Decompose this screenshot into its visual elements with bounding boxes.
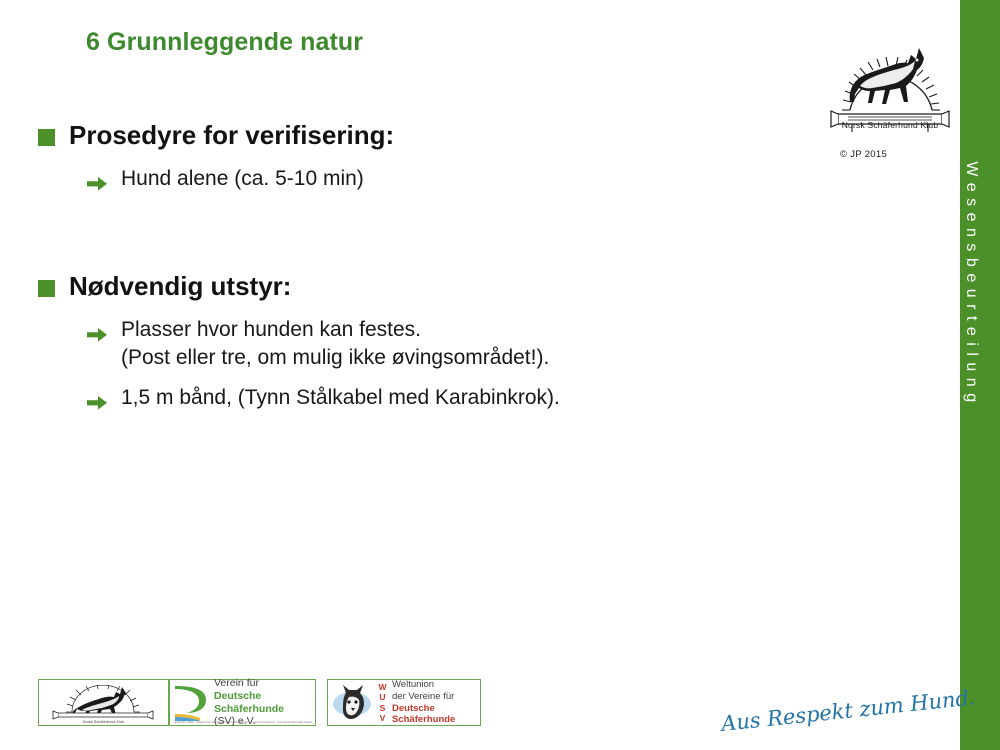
- block-spacer: [0, 195, 940, 269]
- footer-nshk-caption: Norsk Schäferhund Klub: [39, 720, 168, 724]
- page-title: 6 Grunnleggende natur: [86, 28, 363, 57]
- logo-strip-spacer: [316, 679, 327, 726]
- wusv-shepherd-head-icon: [332, 683, 376, 723]
- green-arrow-bullet-icon: [86, 392, 108, 414]
- footer-logo-nshk: Norsk Schäferhund Klub: [38, 679, 169, 726]
- wusv-letters: WUSV: [377, 682, 388, 722]
- green-arrow-bullet-icon: [86, 173, 108, 195]
- sv-line-1: Verein für: [214, 677, 315, 690]
- sub-bullet-row: Plasser hvor hunden kan festes. (Post el…: [0, 316, 940, 372]
- content-block-procedure: Prosedyre for verifisering: Hund alene (…: [0, 118, 940, 195]
- green-square-bullet-icon: [38, 129, 55, 146]
- bullet-heading-row: Prosedyre for verifisering:: [0, 118, 940, 153]
- wusv-line-2: der Vereine für: [392, 691, 480, 703]
- sidebar-vertical-label: Wesensbeurteilung: [962, 161, 980, 408]
- sub-bullet-text: Plasser hvor hunden kan festes. (Post el…: [121, 316, 549, 372]
- sv-swoosh-icon: [173, 684, 209, 722]
- sv-fine-print: gegründet 1899 · Mitglied des VDH, der F…: [174, 721, 312, 724]
- sub-bullet-text: 1,5 m bånd, (Tynn Stålkabel med Karabink…: [121, 384, 560, 412]
- wusv-logo-text: Weltunion der Vereine für Deutsche Schäf…: [392, 679, 480, 727]
- green-arrow-bullet-icon: [86, 324, 108, 346]
- german-shepherd-sunburst-icon: [44, 685, 162, 721]
- bullet-heading-row: Nødvendig utstyr:: [0, 269, 940, 304]
- sv-line-2: Deutsche Schäferhunde: [214, 690, 315, 716]
- footer-logo-wusv: WUSV Weltunion der Vereine für Deutsche …: [327, 679, 481, 726]
- german-shepherd-silhouette: [850, 48, 924, 104]
- right-green-sidebar: Wesensbeurteilung: [960, 0, 1000, 750]
- footer-logo-strip: Norsk Schäferhund Klub Verein für Deutsc…: [38, 679, 481, 726]
- wusv-line-3: Deutsche Schäferhunde: [392, 703, 480, 727]
- green-square-bullet-icon: [38, 280, 55, 297]
- content-block-equipment: Nødvendig utstyr: Plasser hvor hunden ka…: [0, 269, 940, 414]
- footer-logo-sv: Verein für Deutsche Schäferhunde (SV) e.…: [169, 679, 316, 726]
- sub-bullet-text: Hund alene (ca. 5-10 min): [121, 165, 364, 193]
- wusv-line-1: Weltunion: [392, 679, 480, 691]
- bullet-heading-text: Nødvendig utstyr:: [69, 269, 291, 304]
- tagline-text: Aus Respekt zum Hund.: [718, 685, 977, 736]
- sub-bullet-row: Hund alene (ca. 5-10 min): [0, 165, 940, 195]
- sub-bullet-row: 1,5 m bånd, (Tynn Stålkabel med Karabink…: [0, 384, 940, 414]
- slide-content: Prosedyre for verifisering: Hund alene (…: [0, 118, 940, 414]
- bullet-heading-text: Prosedyre for verifisering:: [69, 118, 394, 153]
- tagline-handwriting: Aus Respekt zum Hund.: [718, 693, 958, 741]
